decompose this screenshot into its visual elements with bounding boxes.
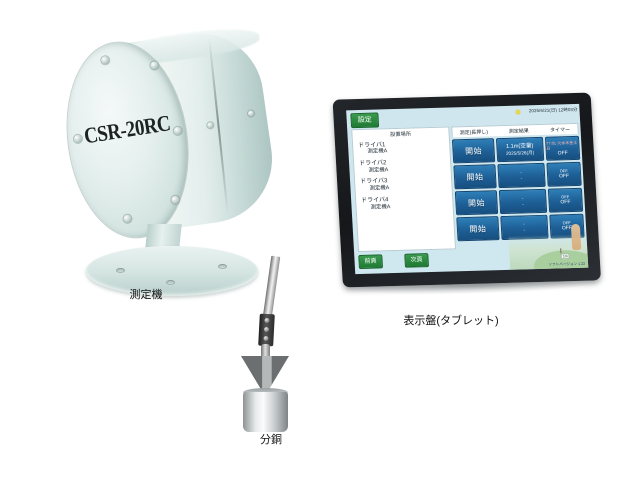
- screw-icon: [150, 61, 159, 70]
- prev-page-button[interactable]: 前頁: [358, 254, 383, 269]
- timer-cell[interactable]: OFF OFF: [548, 188, 584, 213]
- start-button-label: 開始: [469, 223, 487, 234]
- table-row: 開始 - - OFF OFF: [455, 188, 583, 216]
- table-row: 開始 1.1m(空量) 2025/5/26(月) 77:01 火水木金土日 OF…: [452, 136, 580, 164]
- base-bolt-icon: [166, 280, 175, 285]
- result-cell[interactable]: 1.1m(空量) 2025/5/26(月): [496, 137, 544, 162]
- tablet-caption: 表示盤(タブレット): [368, 312, 534, 328]
- sun-icon: [515, 110, 520, 115]
- tablet-device: 設定 2025/6/21(日) 12時03分 設置場所 ドライバ1 測定機A ド…: [333, 93, 602, 296]
- column-header-timer: タイマー: [542, 126, 577, 135]
- start-button[interactable]: 開始: [452, 138, 495, 163]
- start-button-label: 開始: [465, 145, 483, 156]
- weight-photo: [215, 252, 325, 437]
- driver-sub: 測定機A: [359, 165, 450, 174]
- screw-icon: [123, 214, 132, 223]
- timer-state: OFF: [559, 173, 569, 180]
- product-layout: CSR-20RC 測定機 分銅: [0, 0, 640, 480]
- timer-cell[interactable]: OFF OFF: [546, 162, 582, 187]
- screw-icon: [101, 56, 110, 65]
- screen-footer: 前頁 次頁: [358, 251, 519, 271]
- timer-state: OFF: [558, 150, 568, 157]
- location-panel: 設置場所 ドライバ1 測定機A ドライバ2 測定機A ドライバ3 測定機A: [351, 126, 456, 252]
- timer-schedule: 77:01 火水木金土日: [546, 139, 579, 150]
- settings-button[interactable]: 設定: [350, 112, 379, 128]
- result-date: 2025/5/26(月): [506, 150, 534, 157]
- bolt-icon: [264, 318, 269, 323]
- list-item[interactable]: ドライバ4 測定機A: [356, 193, 453, 214]
- bolt-icon: [263, 336, 268, 341]
- start-button[interactable]: 開始: [453, 164, 496, 189]
- next-page-button[interactable]: 次頁: [404, 253, 429, 268]
- result-date: -: [522, 201, 524, 207]
- screw-icon: [171, 195, 180, 204]
- measurement-grid: 測定(長押し) 測定結果 タイマー 開始 1.1m(空量) 2025/5/26(…: [451, 123, 585, 249]
- software-version-label: ソフトバージョン 1.22: [548, 262, 585, 268]
- timer-state: OFF: [560, 199, 570, 206]
- weight-bracket: [258, 314, 275, 347]
- driver-sub: 測定機A: [358, 147, 449, 156]
- device-caption: 測定機: [88, 286, 204, 302]
- scenery-depth-tag: 1m: [561, 253, 570, 260]
- device-body: CSR-20RC: [55, 23, 284, 244]
- hand-illustration: [571, 224, 581, 250]
- start-button-label: 開始: [468, 197, 486, 208]
- start-button[interactable]: 開始: [456, 216, 499, 241]
- table-row: 開始 - - OFF OFF: [453, 162, 581, 190]
- tablet-screen: 設定 2025/6/21(日) 12時03分 設置場所 ドライバ1 測定機A ド…: [346, 104, 588, 274]
- driver-sub: 測定機A: [360, 184, 451, 193]
- column-header-measure: 測定(長押し): [452, 128, 495, 137]
- result-cell[interactable]: - -: [497, 163, 545, 188]
- result-cell[interactable]: - -: [499, 189, 547, 214]
- tablet-photo: 設定 2025/6/21(日) 12時03分 設置場所 ドライバ1 測定機A ド…: [338, 96, 610, 306]
- result-date: -: [523, 227, 525, 233]
- clock-label: 2025/6/21(日) 12時03分: [529, 107, 578, 114]
- weight-strap: [263, 256, 281, 319]
- base-bolt-icon: [116, 268, 125, 273]
- weight-body: [243, 392, 288, 432]
- tablet-bezel: 設定 2025/6/21(日) 12時03分 設置場所 ドライバ1 測定機A ド…: [333, 93, 601, 288]
- start-button-label: 開始: [466, 171, 484, 182]
- bolt-icon: [264, 327, 269, 332]
- grid-header-row: 測定(長押し) 測定結果 タイマー: [451, 123, 579, 138]
- timer-cell[interactable]: 77:01 火水木金土日 OFF: [545, 136, 581, 161]
- column-header-result: 測定結果: [495, 127, 543, 136]
- weight-caption: 分銅: [213, 431, 329, 447]
- result-date: -: [521, 175, 523, 181]
- start-button[interactable]: 開始: [455, 190, 498, 215]
- device-model-label: CSR-20RC: [70, 109, 185, 152]
